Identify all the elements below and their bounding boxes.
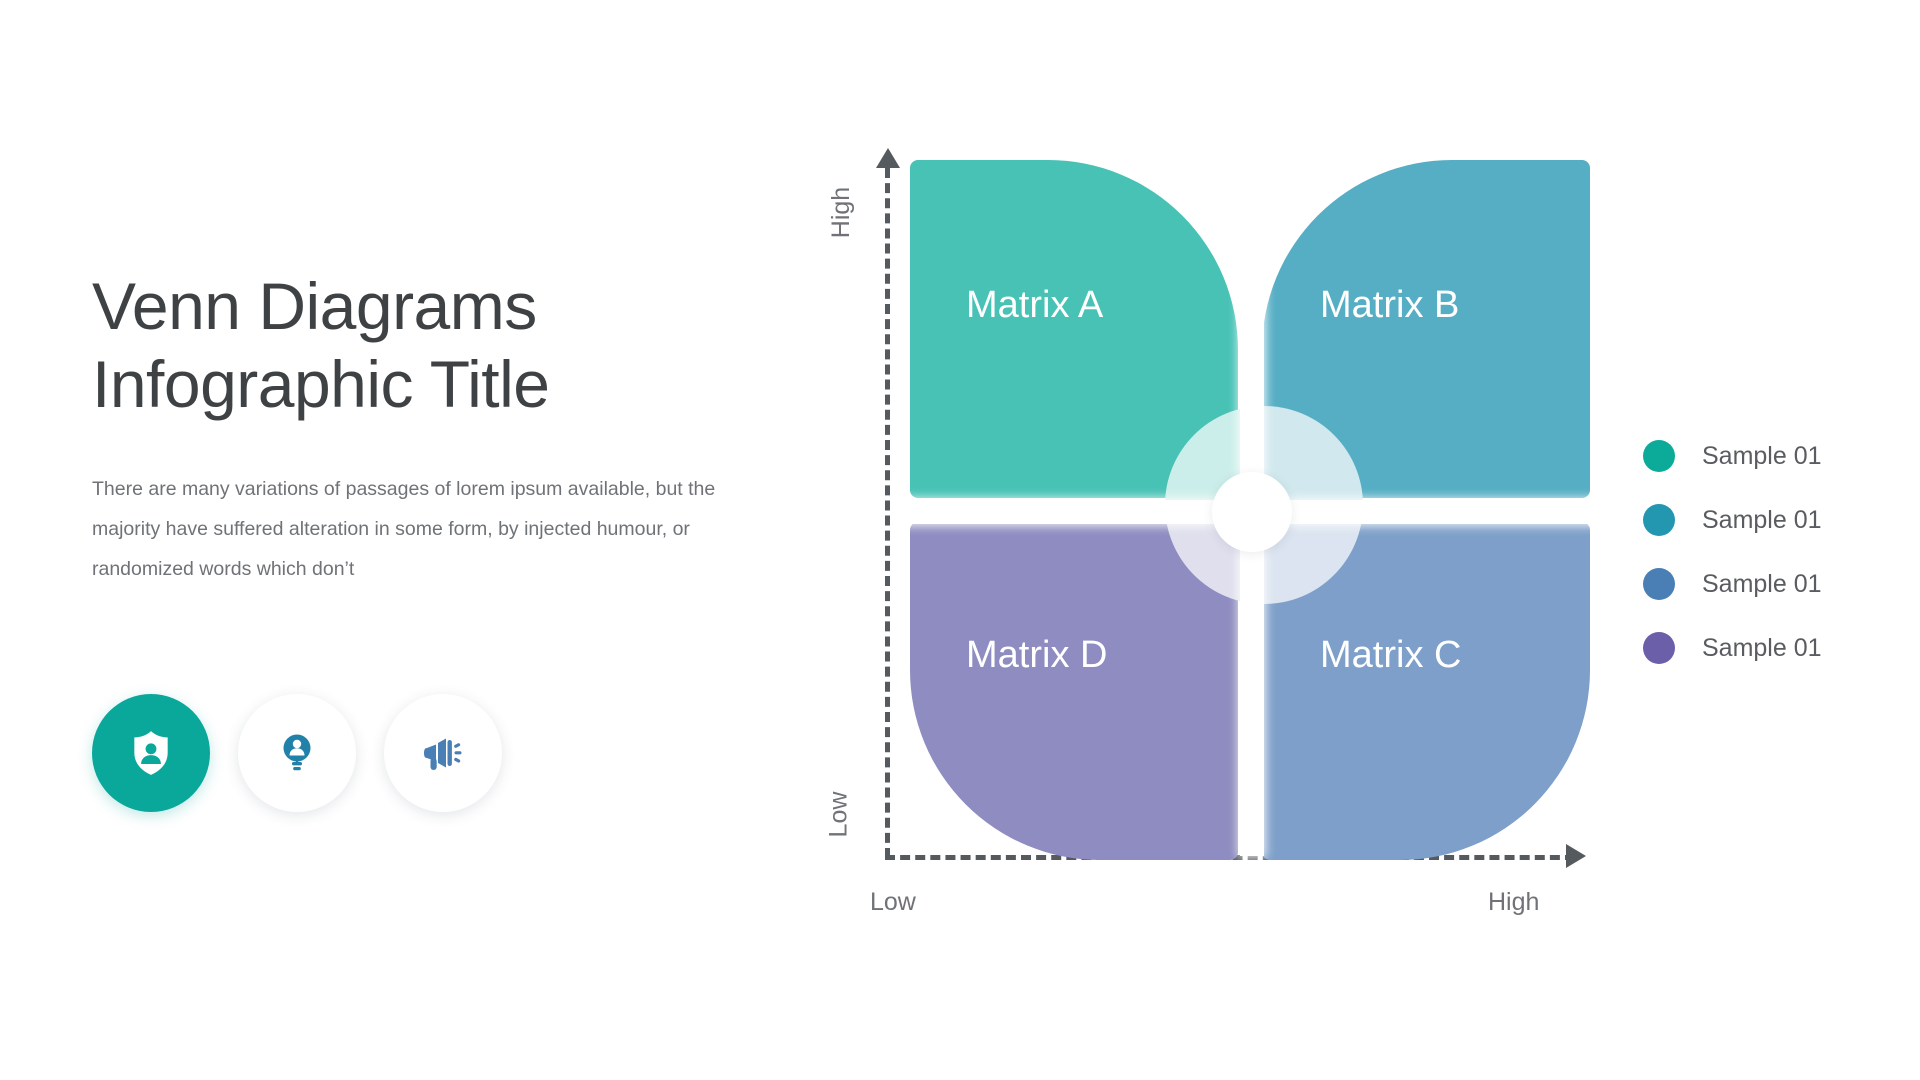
y-axis-arrow-icon bbox=[876, 148, 900, 168]
y-axis-line bbox=[885, 168, 890, 858]
shield-person-icon-button[interactable] bbox=[92, 694, 210, 812]
y-axis-high-label: High bbox=[827, 187, 856, 238]
quadrant-label-c: Matrix C bbox=[1320, 634, 1461, 677]
lightbulb-person-icon-button[interactable] bbox=[238, 694, 356, 812]
legend-dot-icon bbox=[1643, 568, 1675, 600]
x-axis-low-label: Low bbox=[870, 888, 916, 917]
body-paragraph: There are many variations of passages of… bbox=[92, 470, 752, 590]
page-title: Venn Diagrams Infographic Title bbox=[92, 268, 772, 424]
icon-button-row bbox=[92, 694, 502, 812]
megaphone-icon-button[interactable] bbox=[384, 694, 502, 812]
y-axis-low-label: Low bbox=[824, 792, 853, 838]
megaphone-icon bbox=[419, 729, 467, 777]
x-axis-high-label: High bbox=[1488, 888, 1539, 917]
legend-label: Sample 01 bbox=[1702, 634, 1822, 663]
legend-dot-icon bbox=[1643, 440, 1675, 472]
legend-label: Sample 01 bbox=[1702, 570, 1822, 599]
legend-item[interactable]: Sample 01 bbox=[1643, 424, 1822, 488]
legend: Sample 01 Sample 01 Sample 01 Sample 01 bbox=[1643, 424, 1822, 680]
legend-item[interactable]: Sample 01 bbox=[1643, 552, 1822, 616]
center-core-circle bbox=[1212, 472, 1292, 552]
quadrant-group: Matrix A Matrix B Matrix C Matrix D bbox=[910, 160, 1600, 850]
legend-dot-icon bbox=[1643, 632, 1675, 664]
shield-person-icon bbox=[126, 728, 176, 778]
matrix-chart: High Low Low High Matrix A Matrix B Matr… bbox=[860, 150, 1560, 870]
lightbulb-person-icon bbox=[273, 729, 321, 777]
legend-item[interactable]: Sample 01 bbox=[1643, 488, 1822, 552]
quadrant-label-d: Matrix D bbox=[966, 634, 1107, 677]
legend-item[interactable]: Sample 01 bbox=[1643, 616, 1822, 680]
legend-label: Sample 01 bbox=[1702, 442, 1822, 471]
legend-dot-icon bbox=[1643, 504, 1675, 536]
left-content-panel: Venn Diagrams Infographic Title There ar… bbox=[92, 268, 772, 590]
legend-label: Sample 01 bbox=[1702, 506, 1822, 535]
quadrant-label-b: Matrix B bbox=[1320, 284, 1459, 327]
quadrant-label-a: Matrix A bbox=[966, 284, 1103, 327]
